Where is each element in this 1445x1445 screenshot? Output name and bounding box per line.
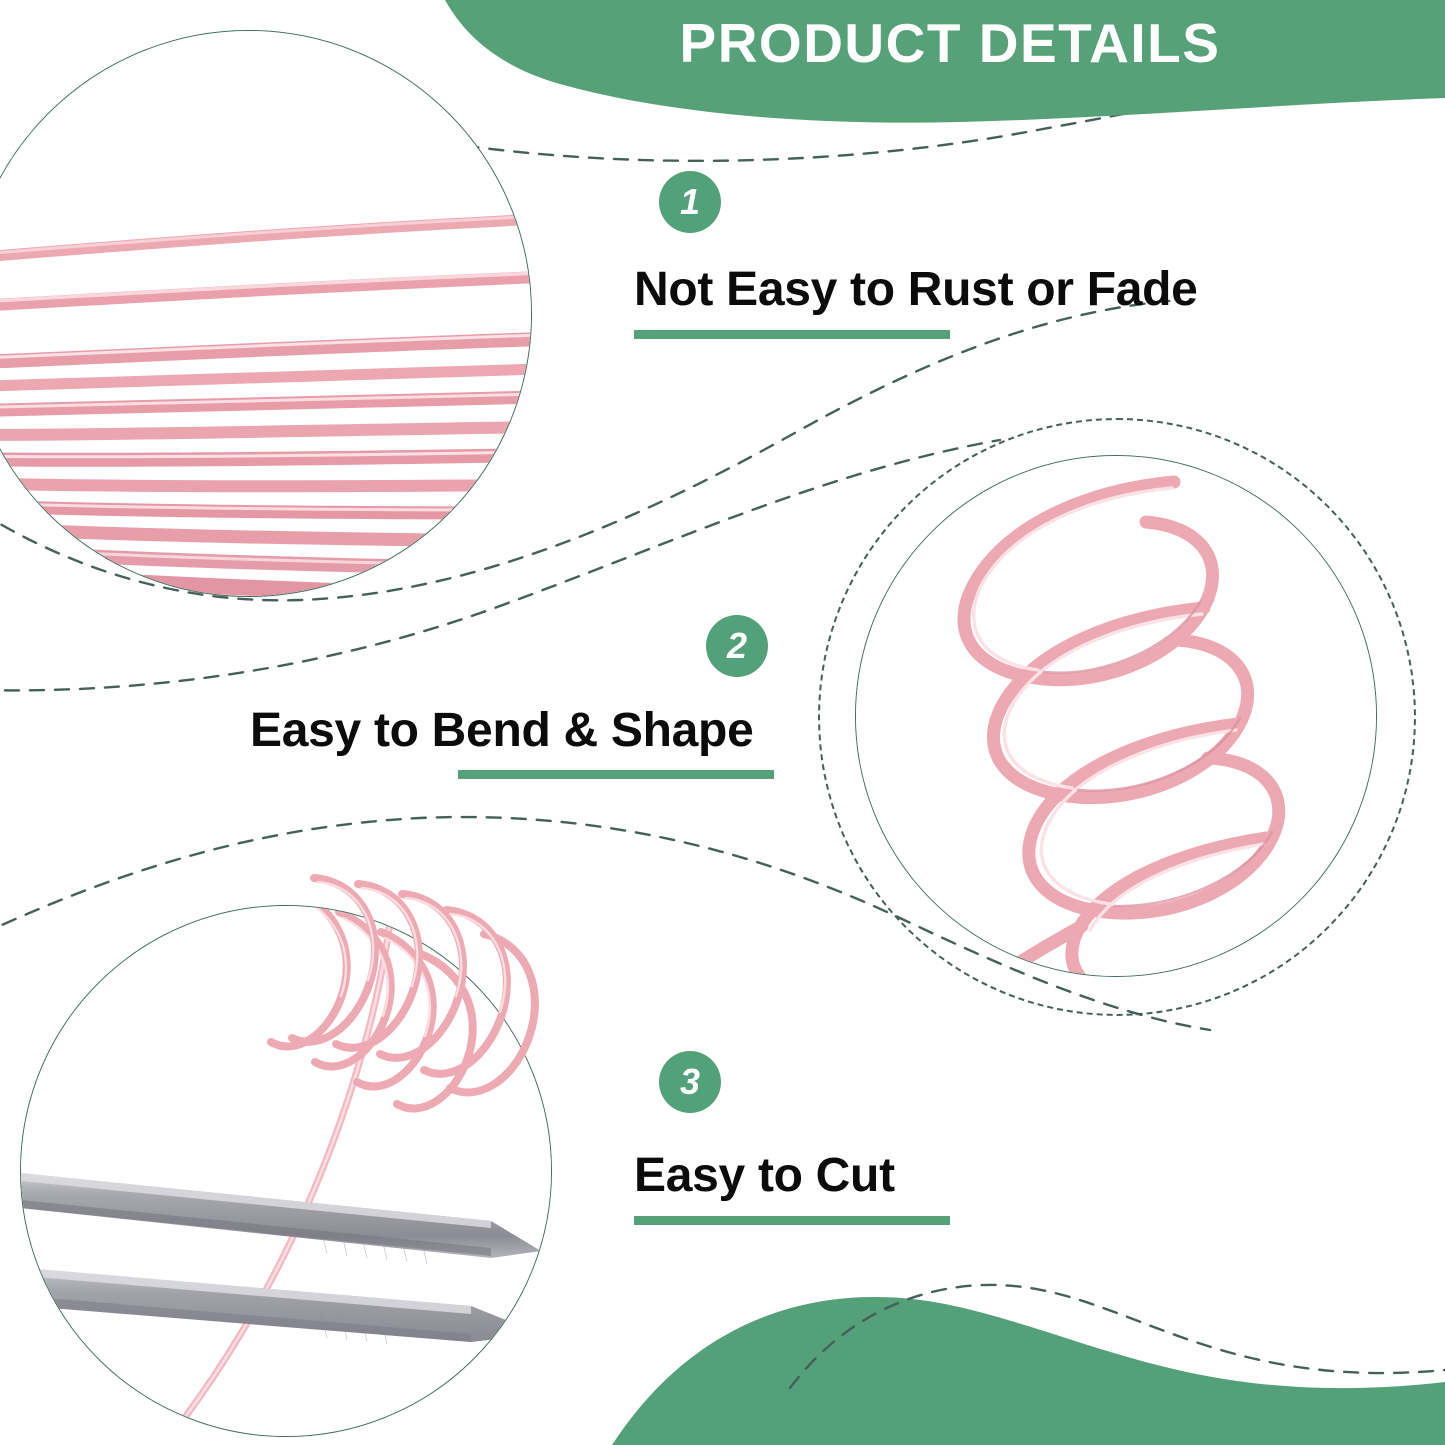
pink-wire-spiral-image [856,456,1376,976]
product-details-infographic: PRODUCT DETAILS [0,0,1445,1445]
feature-title-3: Easy to Cut [634,1148,895,1203]
page-title: PRODUCT DETAILS [620,8,1280,78]
feature-badge-2: 2 [706,615,768,677]
feature-badge-2-number: 2 [706,615,768,677]
feature-rule-2 [458,770,774,779]
feature-title-2: Easy to Bend & Shape [250,703,753,758]
feature-badge-3: 3 [659,1051,721,1113]
feature-title-1: Not Easy to Rust or Fade [634,262,1198,317]
feature-badge-1: 1 [659,171,721,233]
feature-badge-3-number: 3 [659,1051,721,1113]
scissor-blades-cutting-wire-image [21,906,551,1436]
photo-not-easy-to-rust [0,30,532,597]
photo-easy-to-bend-and-shape [855,455,1377,977]
feature-badge-1-number: 1 [659,171,721,233]
wire-strands-image [0,31,531,596]
dash-curve-bottom-wave [790,1285,1445,1388]
feature-rule-1 [634,330,950,339]
photo-easy-to-cut [20,905,552,1437]
feature-rule-3 [634,1216,950,1225]
